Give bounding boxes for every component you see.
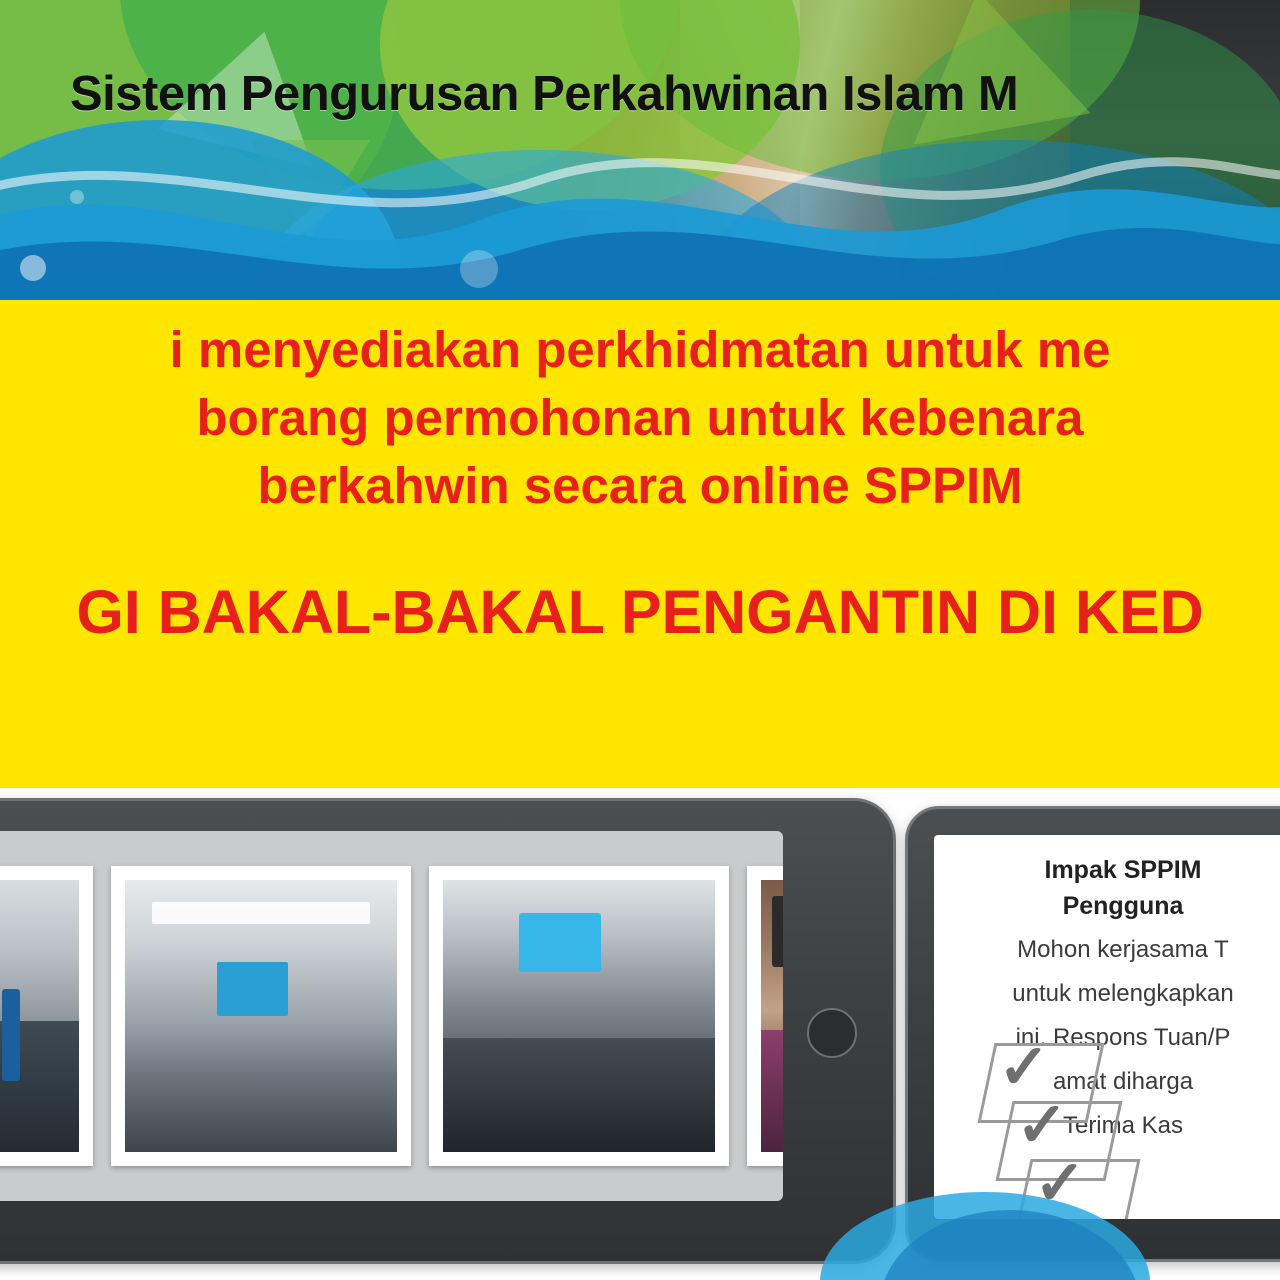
announcement-block: i menyediakan perkhidmatan untuk me bora… (0, 300, 1280, 788)
survey-title: Impak SPPIM (948, 853, 1280, 887)
check-icon-2: ✓ (1016, 1095, 1068, 1157)
computer-lab-photo-2 (125, 880, 397, 1152)
tablet-screen (0, 831, 783, 1201)
survey-body-line-2: untuk melengkapkan (948, 977, 1280, 1011)
computer-lab-photo-4 (761, 880, 783, 1152)
photo-frame-3 (429, 866, 729, 1166)
dot-icon-3 (460, 250, 498, 288)
announcement-line-2: borang permohonan untuk kebenara (0, 384, 1280, 452)
check-icon-1: ✓ (998, 1037, 1050, 1099)
survey-body-line-1: Mohon kerjasama T (948, 933, 1280, 967)
photo-frame-2 (111, 866, 411, 1166)
header-banner: Sistem Pengurusan Perkahwinan Islam M (0, 0, 1280, 300)
survey-subtitle: Penggunа (948, 889, 1280, 923)
tablet-device (0, 798, 896, 1264)
survey-screen: Impak SPPIM Penggunа Mohon kerjasama T u… (934, 835, 1280, 1219)
announcement-inner: i menyediakan perkhidmatan untuk me bora… (0, 300, 1280, 648)
devices-section: Impak SPPIM Penggunа Mohon kerjasama T u… (0, 788, 1280, 1280)
announcement-line-3: berkahwin secara online SPPIM (0, 452, 1280, 520)
dot-icon-2 (70, 190, 84, 204)
computer-lab-photo-1 (0, 880, 79, 1152)
announcement-highlight: GI BAKAL-BAKAL PENGANTIN DI KED (0, 576, 1280, 648)
header-background-art (0, 0, 1280, 300)
announcement-line-1: i menyediakan perkhidmatan untuk me (0, 316, 1280, 384)
dot-icon-1 (20, 255, 46, 281)
wave-icon (0, 110, 1280, 300)
poster-root: Sistem Pengurusan Perkahwinan Islam M i … (0, 0, 1280, 1280)
photo-frame-1 (0, 866, 93, 1166)
checklist-graphic: ✓ ✓ ✓ (968, 1035, 1268, 1219)
page-title: Sistem Pengurusan Perkahwinan Islam M (70, 66, 1280, 122)
photo-frame-4 (747, 866, 783, 1166)
computer-lab-photo-3 (443, 880, 715, 1152)
home-button-icon[interactable] (807, 1008, 857, 1058)
